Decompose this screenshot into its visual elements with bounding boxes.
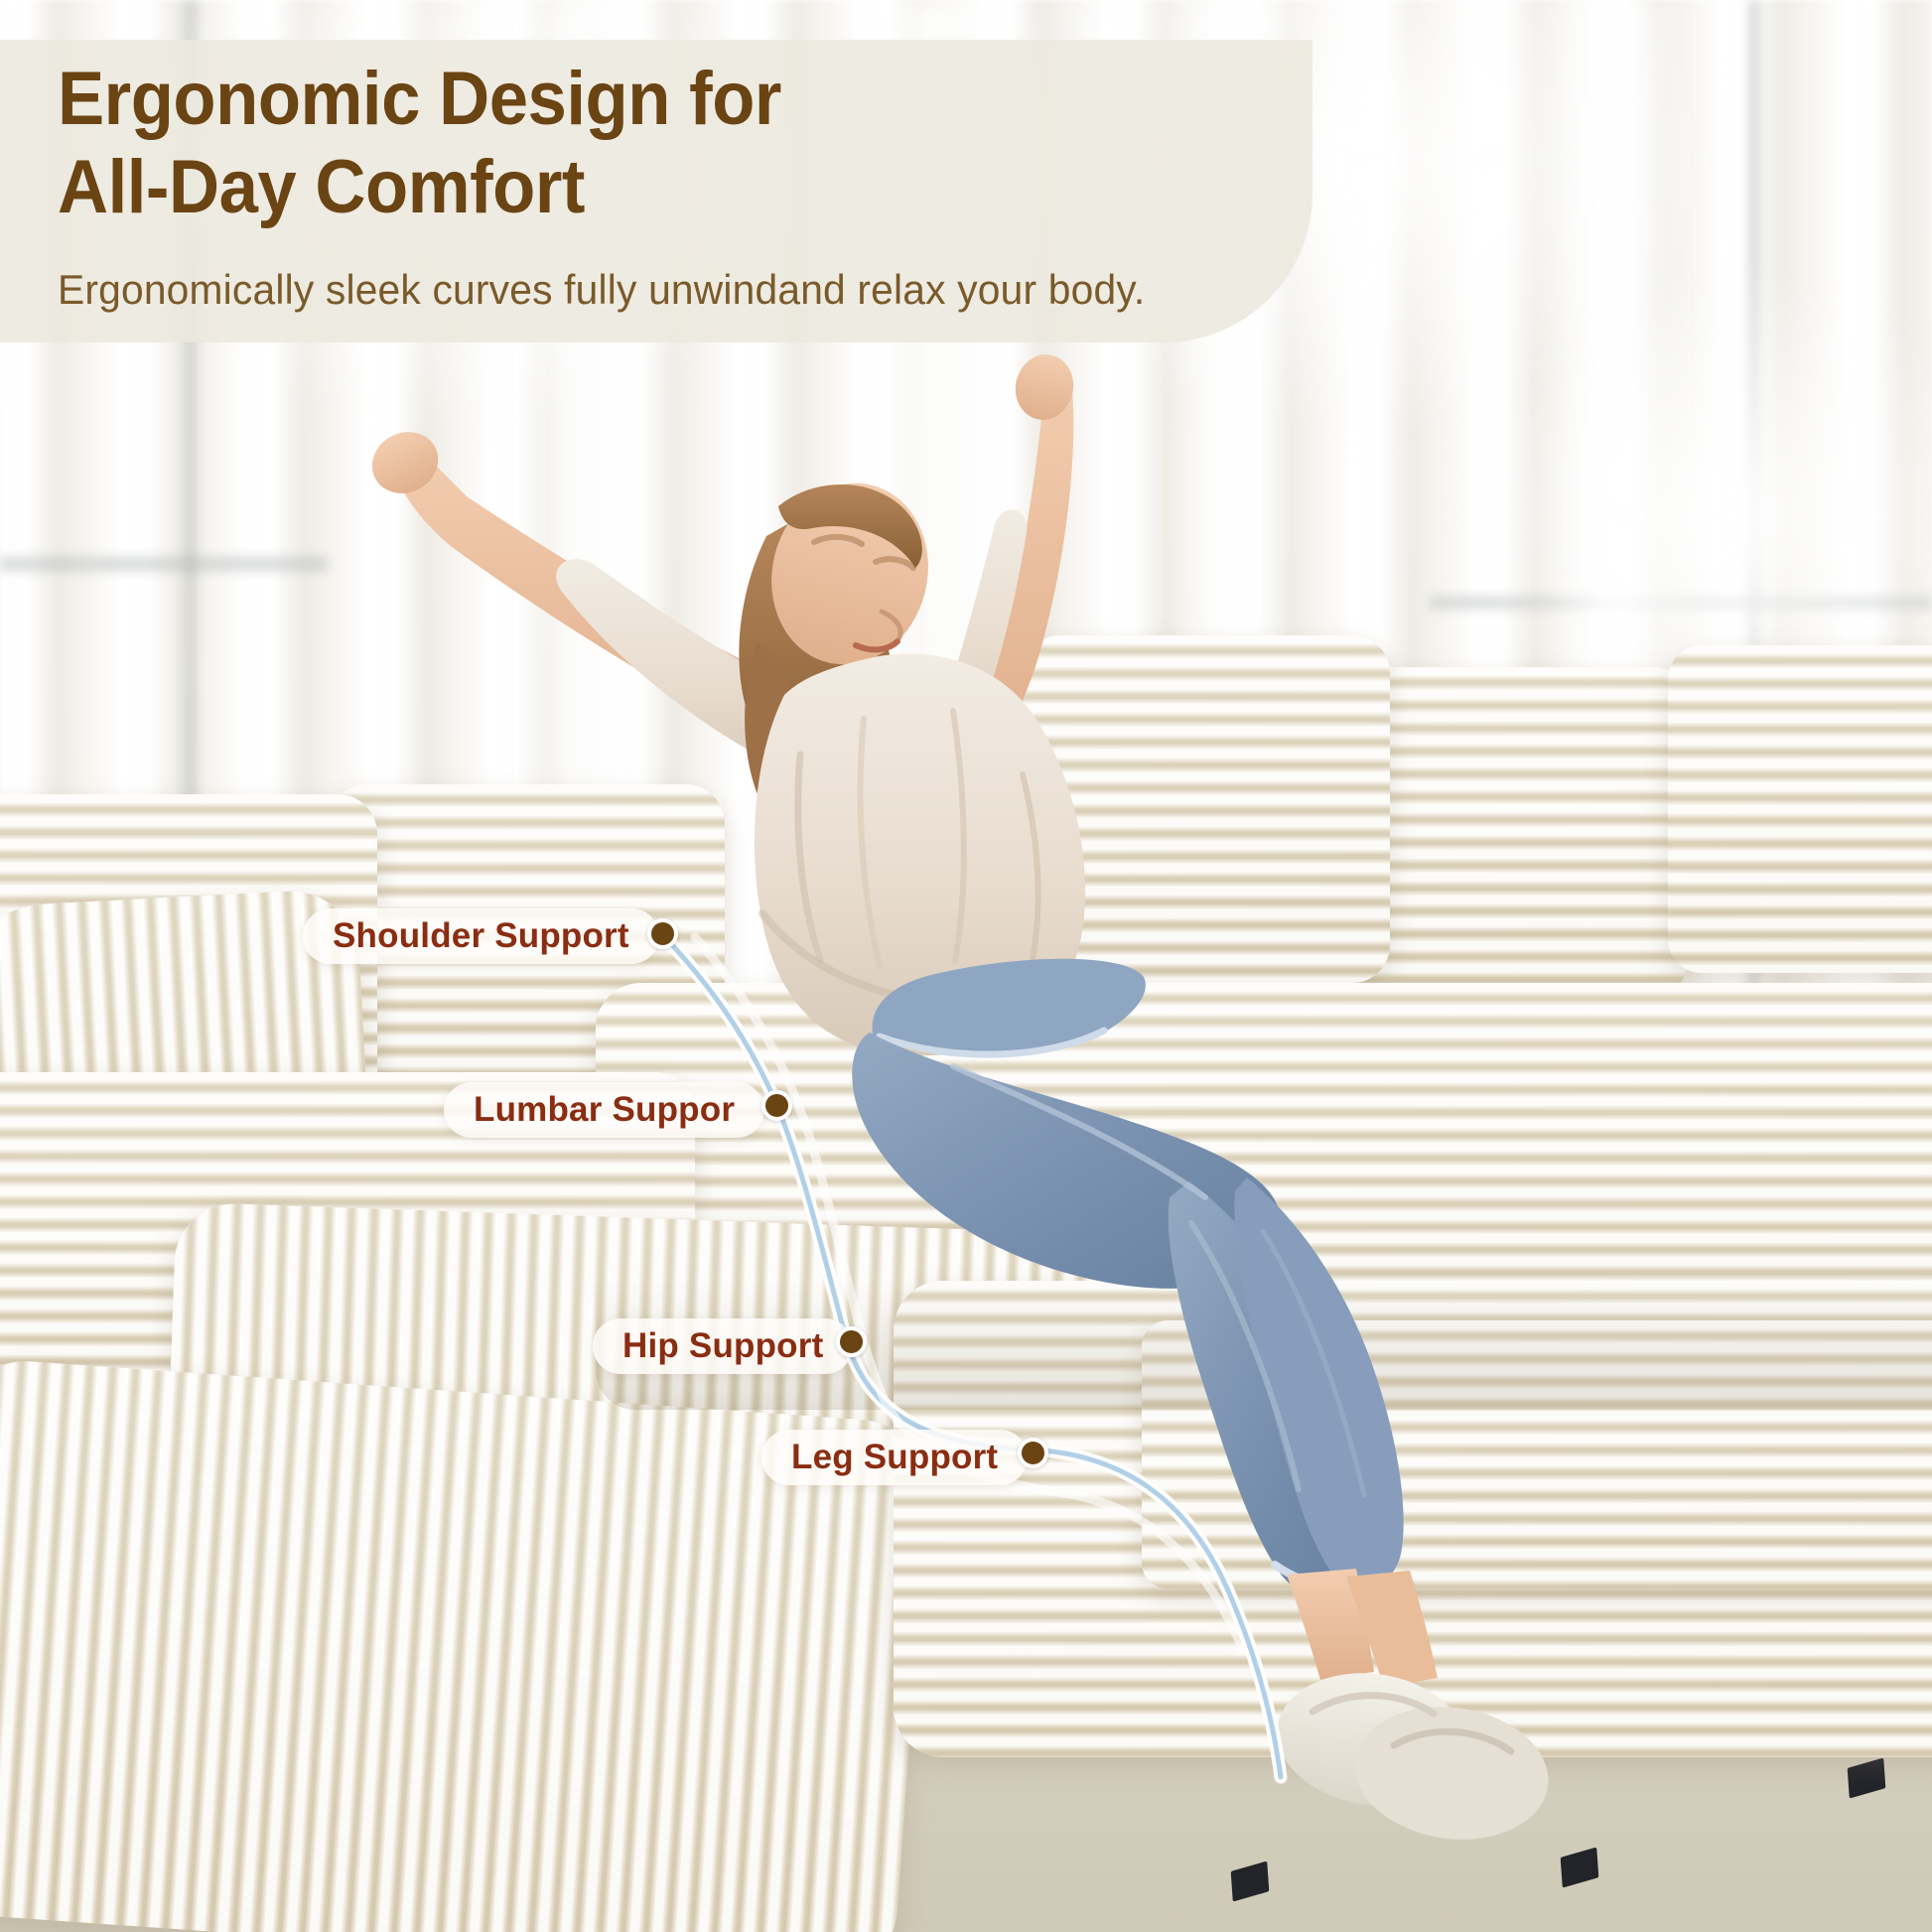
headline-banner: Ergonomic Design for All-Day Comfort Erg… xyxy=(0,40,1312,343)
callout-label: Leg Support xyxy=(791,1438,998,1477)
product-feature-image: Ergonomic Design for All-Day Comfort Erg… xyxy=(0,0,1932,1932)
callout-leg-support[interactable]: Leg Support xyxy=(761,1430,1028,1485)
page-subtitle: Ergonomically sleek curves fully unwinda… xyxy=(58,266,1252,314)
callout-label: Shoulder Support xyxy=(333,916,629,956)
callout-hip-support[interactable]: Hip Support xyxy=(593,1318,853,1374)
callout-label: Hip Support xyxy=(622,1326,823,1366)
page-title: Ergonomic Design for All-Day Comfort xyxy=(58,56,1120,232)
callout-dot-hip xyxy=(836,1326,867,1357)
callout-shoulder-support[interactable]: Shoulder Support xyxy=(303,908,659,964)
callout-label: Lumbar Suppor xyxy=(474,1090,735,1130)
callout-dot-shoulder xyxy=(647,918,678,949)
callout-dot-lumbar xyxy=(761,1090,792,1121)
callout-dot-leg xyxy=(1018,1438,1048,1468)
callout-lumbar-support[interactable]: Lumbar Suppor xyxy=(444,1082,764,1138)
